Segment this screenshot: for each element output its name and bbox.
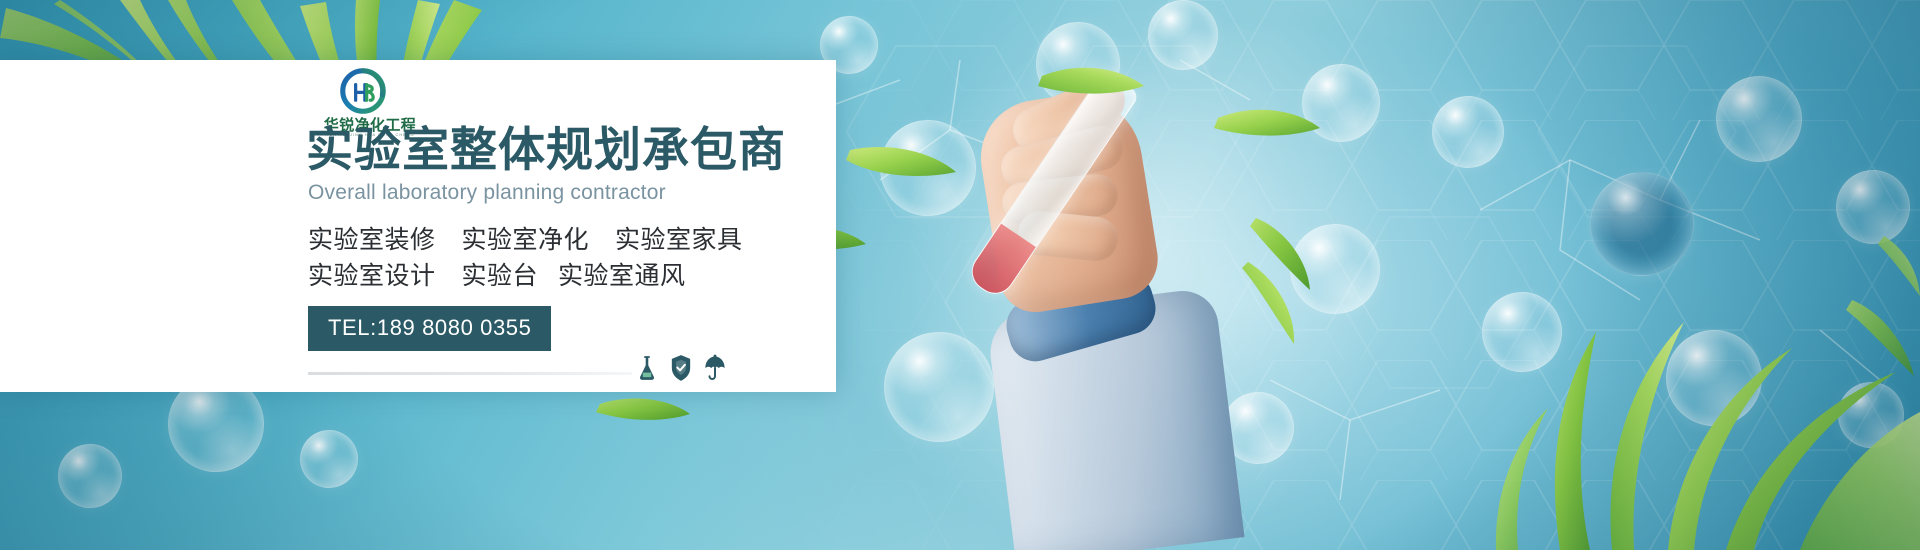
laboratory-contractor-banner: 华锐净化工程 HUA RUI JING HUA GONG CHENG 实验室整体… bbox=[0, 0, 1920, 550]
umbrella-icon bbox=[704, 354, 726, 382]
service-item: 实验室通风 bbox=[558, 256, 686, 292]
service-item: 实验室设计 bbox=[308, 256, 436, 292]
service-item: 实验台 bbox=[462, 256, 539, 292]
divider-rule bbox=[308, 372, 632, 375]
services-row-2: 实验室设计实验台实验室通风 bbox=[308, 256, 686, 292]
shield-icon bbox=[670, 354, 692, 382]
services-row-1: 实验室装修实验室净化实验室家具 bbox=[308, 220, 743, 256]
service-item: 实验室净化 bbox=[462, 220, 590, 256]
page-title: 实验室整体规划承包商 bbox=[306, 127, 786, 174]
page-subtitle: Overall laboratory planning contractor bbox=[308, 181, 666, 205]
telephone-button[interactable]: TEL:189 8080 0355 bbox=[308, 306, 551, 351]
flask-icon bbox=[636, 354, 658, 382]
service-item: 实验室装修 bbox=[308, 220, 436, 256]
feature-icons bbox=[636, 352, 728, 382]
service-item: 实验室家具 bbox=[615, 220, 743, 256]
hr-monogram-circle-logo bbox=[340, 68, 386, 114]
